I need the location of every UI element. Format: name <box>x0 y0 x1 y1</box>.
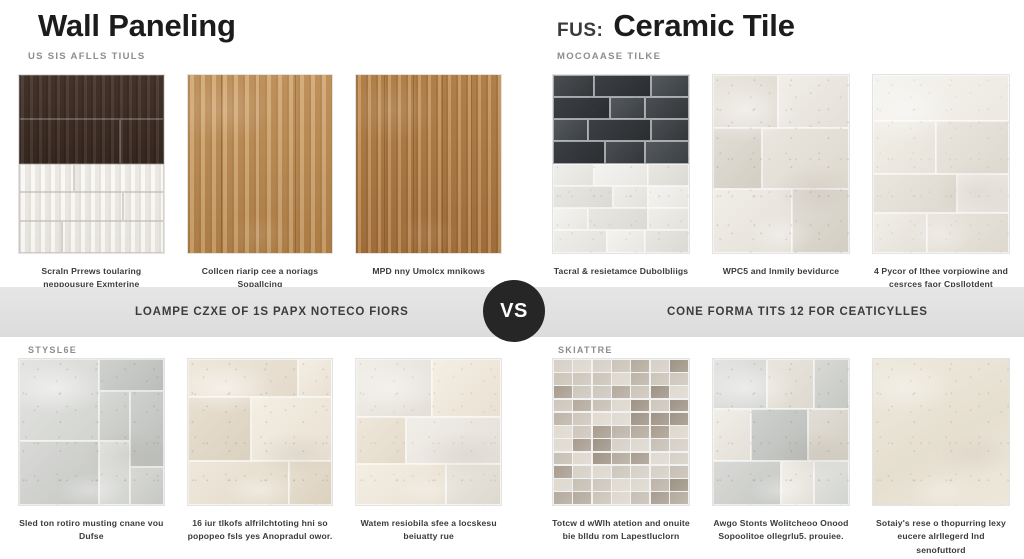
right-title-line: FUS: Ceramic Tile <box>557 8 1024 44</box>
mosaic-tile <box>670 413 688 425</box>
mosaic-tile <box>651 453 669 465</box>
right-panel-subtitle: MOCOAASE TILKE <box>557 51 1024 62</box>
mosaic-tile <box>670 479 688 491</box>
mosaic-tile <box>651 492 669 504</box>
mosaic-tile <box>554 439 572 451</box>
mosaic-tile <box>631 466 649 478</box>
mosaic-tile <box>631 413 649 425</box>
texture <box>356 75 501 253</box>
mosaic-tile <box>670 400 688 412</box>
swatch-caption: Totcw d wWlh atetion and onuite bie blld… <box>552 517 690 544</box>
mosaic-tile <box>573 373 591 385</box>
mosaic-tile <box>573 400 591 412</box>
row1-cards: Scraln Prrews toularing neppousure Exmte… <box>0 74 1024 292</box>
mosaic-tile <box>612 413 630 425</box>
mosaic-tile <box>554 453 572 465</box>
vs-badge: VS <box>483 280 545 342</box>
swatch-card[interactable]: Awgo Stonts Wolitcheoo Onood Sopoolitoe … <box>712 358 850 557</box>
row2-labels: STYSL6E SKIATTRE <box>0 340 1024 358</box>
mosaic-tile <box>593 453 611 465</box>
beige-stone-tile-image <box>712 74 850 254</box>
left-section-label: STYSL6E <box>28 345 77 355</box>
swatch-caption: Sled ton rotiro musting cnane vou Dufse <box>18 517 165 544</box>
mosaic-tile <box>554 386 572 398</box>
mosaic-tile <box>670 360 688 372</box>
mosaic-tile <box>670 466 688 478</box>
mosaic-tile <box>554 373 572 385</box>
swatch-caption: Sotaiy's rese o thopurring lexy eucere a… <box>872 517 1010 557</box>
left-panel-title: Wall Paneling <box>38 8 236 44</box>
texture <box>188 359 333 505</box>
right-row2-label-wrap: SKIATTRE <box>512 340 1024 358</box>
left-panel-header: Wall Paneling US SIS AFLLS TIULS <box>0 8 512 62</box>
mosaic-tile <box>631 373 649 385</box>
medium-oak-plank-wall-image <box>355 74 502 254</box>
mosaic-tile <box>554 413 572 425</box>
swatch-card[interactable]: WPC5 and lnmily bevidurce <box>712 74 850 292</box>
mosaic-tile <box>612 466 630 478</box>
mosaic-tile <box>573 479 591 491</box>
mosaic-tile <box>573 439 591 451</box>
right-panel-header: FUS: Ceramic Tile MOCOAASE TILKE <box>512 8 1024 62</box>
vs-band-right: CONE FORMA TITS 12 FOR CEATICYLLES <box>512 306 1024 318</box>
mosaic-tile <box>554 426 572 438</box>
right-section-label: SKIATTRE <box>558 345 613 355</box>
mosaic-tile <box>612 400 630 412</box>
swatch-caption: MPD nny Umolcx mnikows <box>355 265 502 278</box>
mosaic-tile <box>670 492 688 504</box>
left-title-line: Wall Paneling <box>28 8 512 44</box>
white-marble-tile-image <box>872 74 1010 254</box>
mosaic-tile <box>593 373 611 385</box>
left-row2: Sled ton rotiro musting cnane vou Dufse <box>0 358 512 557</box>
mosaic-tile <box>670 439 688 451</box>
mosaic-tile <box>554 492 572 504</box>
mosaic-tile <box>651 426 669 438</box>
swatch-caption: 16 iur tlkofs alfrilchtoting hni so popo… <box>187 517 334 544</box>
mosaic-tile <box>554 479 572 491</box>
mosaic-tile <box>573 426 591 438</box>
mosaic-tile <box>670 453 688 465</box>
mosaic-tile <box>593 413 611 425</box>
mosaic-tile <box>593 360 611 372</box>
right-row1: Tacral & resietamce Dubolbliigs W <box>512 74 1024 292</box>
texture <box>356 359 501 505</box>
mosaic-tile <box>612 360 630 372</box>
swatch-card[interactable]: 16 iur tlkofs alfrilchtoting hni so popo… <box>187 358 334 557</box>
mosaic-tile <box>554 466 572 478</box>
swatch-card[interactable]: Collcen riarip cee a noriags Sopallcing <box>187 74 334 292</box>
texture <box>713 359 849 505</box>
swatch-card[interactable]: Totcw d wWlh atetion and onuite bie blld… <box>552 358 690 557</box>
mosaic-tile <box>593 386 611 398</box>
mosaic-tile <box>593 439 611 451</box>
mosaic-tile <box>593 400 611 412</box>
swatch-card[interactable]: Scraln Prrews toularing neppousure Exmte… <box>18 74 165 292</box>
mosaic-tile <box>573 360 591 372</box>
headers-row: Wall Paneling US SIS AFLLS TIULS FUS: Ce… <box>0 0 1024 62</box>
texture <box>553 75 689 253</box>
row2-cards: Sled ton rotiro musting cnane vou Dufse <box>0 358 1024 557</box>
mosaic-tile <box>593 492 611 504</box>
swatch-caption: Tacral & resietamce Dubolbliigs <box>552 265 690 278</box>
mosaic-tile <box>631 453 649 465</box>
mosaic-tile <box>631 400 649 412</box>
left-row2-label-wrap: STYSL6E <box>0 340 512 358</box>
right-title-prefix: FUS: <box>557 20 603 42</box>
cream-limestone-pattern-image <box>355 358 502 506</box>
texture <box>873 359 1009 505</box>
dark-and-white-plank-wall-image <box>18 74 165 254</box>
mosaic-tile <box>612 453 630 465</box>
mosaic-tile <box>612 492 630 504</box>
cream-porcelain-slab-image <box>872 358 1010 506</box>
mosaic-tile <box>651 439 669 451</box>
mosaic-tile <box>554 360 572 372</box>
mosaic-tile <box>670 426 688 438</box>
mosaic-tile <box>612 439 630 451</box>
left-row1: Scraln Prrews toularing neppousure Exmte… <box>0 74 512 292</box>
mosaic-tile <box>670 386 688 398</box>
swatch-caption: WPC5 and lnmily bevidurce <box>712 265 850 278</box>
mosaic-tile <box>631 360 649 372</box>
mosaic-tile <box>612 426 630 438</box>
texture <box>713 75 849 253</box>
swatch-card[interactable]: Sotaiy's rese o thopurring lexy eucere a… <box>872 358 1010 557</box>
swatch-card[interactable]: 4 Pycor of lthee vorpiowine and cesrces … <box>872 74 1010 292</box>
mosaic-tile <box>631 386 649 398</box>
mosaic-tile <box>631 492 649 504</box>
texture <box>19 359 164 505</box>
swatch-caption: Watem resiobila sfee a locskesu beiuatty… <box>355 517 502 544</box>
mosaic-tile <box>631 479 649 491</box>
right-band-text: CONE FORMA TITS 12 FOR CEATICYLLES <box>667 306 928 318</box>
mosaic-tile <box>573 413 591 425</box>
vs-badge-label: VS <box>500 300 528 323</box>
mosaic-tile <box>573 453 591 465</box>
mosaic-tile <box>573 386 591 398</box>
mosaic-tile <box>651 400 669 412</box>
mosaic-tile <box>651 386 669 398</box>
mosaic-tile <box>573 466 591 478</box>
swatch-card[interactable]: Watem resiobila sfee a locskesu beiuatty… <box>355 358 502 557</box>
mosaic-tile <box>651 479 669 491</box>
right-panel-title: Ceramic Tile <box>613 8 794 44</box>
swatch-card[interactable]: Tacral & resietamce Dubolbliigs <box>552 74 690 292</box>
left-panel-subtitle: US SIS AFLLS TIULS <box>28 51 512 62</box>
mosaic-tile <box>612 479 630 491</box>
vs-band-left: LOAMPE CZXE OF 1S PAPX NOTECO FIORS <box>0 306 512 318</box>
mosaic-tile <box>651 360 669 372</box>
oak-vertical-panel-image <box>187 74 334 254</box>
texture <box>188 75 333 253</box>
swatch-card[interactable]: MPD nny Umolcx mnikows <box>355 74 502 292</box>
right-row2: Totcw d wWlh atetion and onuite bie blld… <box>512 358 1024 557</box>
swatch-caption: Awgo Stonts Wolitcheoo Onood Sopoolitoe … <box>712 517 850 544</box>
mosaic-tile <box>593 466 611 478</box>
mosaic-tile <box>631 439 649 451</box>
swatch-card[interactable]: Sled ton rotiro musting cnane vou Dufse <box>18 358 165 557</box>
left-band-text: LOAMPE CZXE OF 1S PAPX NOTECO FIORS <box>135 306 409 318</box>
texture <box>553 359 689 505</box>
mixed-format-stone-tile-image <box>712 358 850 506</box>
grey-stone-flagstone-image <box>18 358 165 506</box>
mosaic-tile <box>612 373 630 385</box>
beige-travertine-pattern-image <box>187 358 334 506</box>
mosaic-tile <box>554 400 572 412</box>
mosaic-tile <box>593 479 611 491</box>
mosaic-tile <box>651 373 669 385</box>
mosaic-tile <box>573 492 591 504</box>
mosaic-tile <box>593 426 611 438</box>
mosaic-tile <box>612 386 630 398</box>
mosaic-tile <box>631 426 649 438</box>
mosaic-tile <box>651 413 669 425</box>
comparison-page: Wall Paneling US SIS AFLLS TIULS FUS: Ce… <box>0 0 1024 559</box>
mosaic-tile <box>670 373 688 385</box>
grey-beige-mosaic-image <box>552 358 690 506</box>
texture <box>19 75 164 253</box>
texture <box>873 75 1009 253</box>
charcoal-and-white-subway-tile-image <box>552 74 690 254</box>
mosaic-tile <box>651 466 669 478</box>
